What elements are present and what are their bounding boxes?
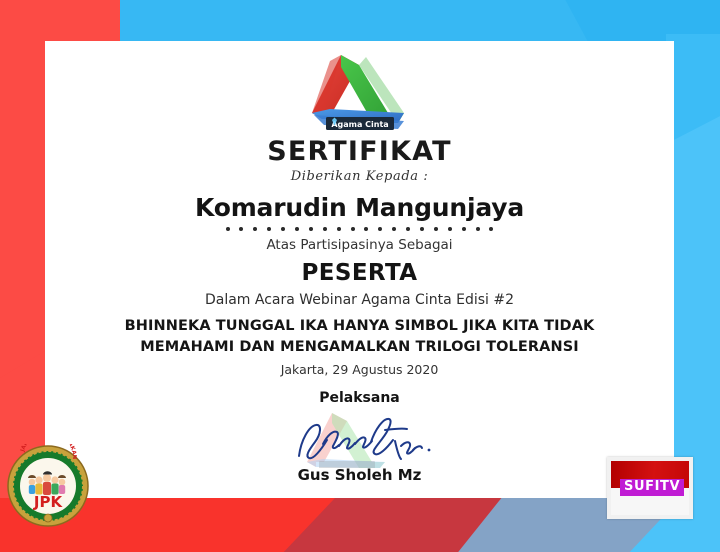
participation-label: Atas Partisipasinya Sebagai: [266, 237, 452, 253]
divider-dot: [309, 227, 313, 231]
sufitv-label: SUFITV: [620, 479, 684, 496]
divider-dot: [337, 227, 341, 231]
divider-dot: [351, 227, 355, 231]
page-title: SERTIFIKAT: [267, 136, 452, 167]
event-line: Dalam Acara Webinar Agama Cinta Edisi #2: [205, 292, 514, 308]
divider-dot: [420, 227, 424, 231]
divider-dot: [226, 227, 230, 231]
divider-dot: [448, 227, 452, 231]
handwritten-signature: [283, 410, 443, 468]
divider-dot: [364, 227, 368, 231]
divider-dot: [253, 227, 257, 231]
divider-dot: [281, 227, 285, 231]
certificate-card: Agama Cinta SERTIFIKAT Diberikan Kepada …: [45, 41, 674, 498]
divider-dot: [239, 227, 243, 231]
jpk-seal: JARINGAN PERGERAKAN KEBANGSAAN JPK: [6, 444, 90, 528]
agama-cinta-logo: Agama Cinta: [300, 51, 420, 135]
logo-wordmark: Agama Cinta: [331, 120, 388, 129]
penrose-triangle-icon: Agama Cinta: [300, 51, 420, 135]
divider-dot: [323, 227, 327, 231]
divider-dot: [476, 227, 480, 231]
divider-dot: [406, 227, 410, 231]
theme-line-2: MEMAHAMI DAN MENGAMALKAN TRILOGI TOLERAN…: [140, 337, 579, 358]
divider-dot: [392, 227, 396, 231]
divider-dot: [434, 227, 438, 231]
awarded-to-label: Diberikan Kepada :: [291, 169, 429, 184]
place-and-date: Jakarta, 29 Agustus 2020: [281, 362, 439, 377]
divider-dot: [489, 227, 493, 231]
sufitv-badge: SUFITV: [607, 457, 693, 519]
signature-block: [265, 408, 455, 470]
divider-dot: [378, 227, 382, 231]
organizer-label: Pelaksana: [319, 390, 400, 406]
recipient-name: Komarudin Mangunjaya: [195, 193, 524, 222]
divider-dot: [295, 227, 299, 231]
certificate-screenshot: Agama Cinta SERTIFIKAT Diberikan Kepada …: [0, 0, 720, 552]
jpk-acronym: JPK: [33, 493, 64, 511]
divider-dot: [267, 227, 271, 231]
certificate-content: Agama Cinta SERTIFIKAT Diberikan Kepada …: [45, 41, 674, 498]
theme-line-1: BHINNEKA TUNGGAL IKA HANYA SIMBOL JIKA K…: [125, 316, 595, 337]
dotted-divider: [226, 226, 494, 231]
role-label: PESERTA: [301, 260, 417, 286]
divider-dot: [462, 227, 466, 231]
